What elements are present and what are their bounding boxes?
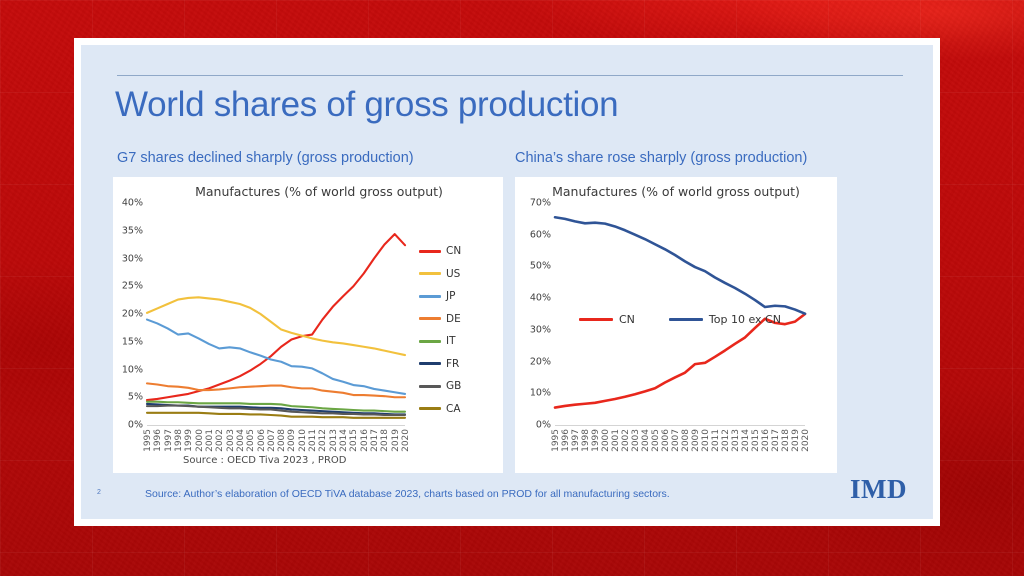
x-axis-tick: 2014 (741, 429, 751, 452)
legend-color-swatch (419, 340, 441, 343)
x-axis-tick: 2006 (661, 429, 671, 452)
y-axis-tick: 5% (128, 392, 143, 403)
chart-left-title: Manufactures (% of world gross output) (113, 184, 503, 199)
legend-label: FR (446, 358, 459, 370)
x-axis-tick: 2011 (308, 429, 318, 452)
series-line (555, 217, 805, 313)
y-axis-tick: 30% (122, 253, 143, 264)
x-axis-tick: 2019 (791, 429, 801, 452)
x-axis-tick: 1999 (184, 429, 194, 452)
x-axis-tick: 2000 (601, 429, 611, 452)
series-line (147, 297, 405, 355)
x-axis-tick: 1996 (561, 429, 571, 452)
y-axis-tick: 10% (122, 364, 143, 375)
legend-color-swatch (419, 250, 441, 253)
x-axis-tick: 2004 (236, 429, 246, 452)
x-axis-tick: 1995 (551, 429, 561, 452)
y-axis-tick: 0% (128, 420, 143, 431)
x-axis-tick: 1996 (153, 429, 163, 452)
y-axis-tick: 20% (530, 356, 551, 367)
x-axis-tick: 2001 (611, 429, 621, 452)
chart-lines (147, 203, 405, 425)
legend-label: GB (446, 380, 461, 392)
legend-entry: CN (419, 245, 461, 257)
chart-right-title: Manufactures (% of world gross output) (515, 184, 837, 199)
legend-color-swatch (669, 318, 703, 322)
series-line (555, 314, 805, 408)
chart-left-y-axis: 0%5%10%15%20%25%30%35%40% (117, 203, 143, 425)
subtitle-left: G7 shares declined sharply (gross produc… (117, 150, 414, 166)
legend-color-swatch (419, 407, 441, 410)
chart-right-legend: CNTop 10 ex CN (579, 313, 781, 326)
legend-entry: FR (419, 358, 461, 370)
x-axis-baseline (147, 425, 405, 426)
legend-entry: CN (579, 313, 635, 326)
legend-label: IT (446, 335, 456, 347)
x-axis-tick: 2005 (651, 429, 661, 452)
x-axis-tick: 2013 (329, 429, 339, 452)
legend-entry: GB (419, 380, 461, 392)
x-axis-tick: 2006 (257, 429, 267, 452)
x-axis-tick: 2017 (370, 429, 380, 452)
x-axis-tick: 2007 (267, 429, 277, 452)
legend-color-swatch (419, 272, 441, 275)
legend-color-swatch (419, 385, 441, 388)
series-line (147, 234, 405, 400)
x-axis-tick: 2019 (391, 429, 401, 452)
subtitle-right: China’s share rose sharply (gross produc… (515, 150, 807, 166)
chart-left-legend: CNUSJPDEITFRGBCA (419, 245, 461, 425)
series-line (147, 320, 405, 394)
x-axis-tick: 2000 (195, 429, 205, 452)
x-axis-baseline (555, 425, 805, 426)
chart-left-source-note: Source : OECD Tiva 2023 , PROD (183, 455, 346, 466)
x-axis-tick: 2007 (671, 429, 681, 452)
x-axis-tick: 2017 (771, 429, 781, 452)
y-axis-tick: 70% (530, 198, 551, 209)
x-axis-tick: 2002 (215, 429, 225, 452)
x-axis-tick: 1997 (571, 429, 581, 452)
x-axis-tick: 2005 (246, 429, 256, 452)
y-axis-tick: 25% (122, 281, 143, 292)
legend-color-swatch (419, 295, 441, 298)
legend-color-swatch (579, 318, 613, 322)
legend-entry: DE (419, 313, 461, 325)
x-axis-tick: 2014 (339, 429, 349, 452)
legend-label: DE (446, 313, 461, 325)
y-axis-tick: 35% (122, 225, 143, 236)
chart-right-x-axis: 1995199619971998199920002001200220032004… (555, 429, 805, 469)
y-axis-tick: 0% (536, 420, 551, 431)
x-axis-tick: 1999 (591, 429, 601, 452)
x-axis-tick: 2020 (401, 429, 411, 452)
legend-color-swatch (419, 362, 441, 365)
imd-logo: IMD (850, 474, 907, 505)
x-axis-tick: 2012 (318, 429, 328, 452)
x-axis-tick: 2003 (226, 429, 236, 452)
x-axis-tick: 1998 (174, 429, 184, 452)
x-axis-tick: 2016 (761, 429, 771, 452)
legend-entry: IT (419, 335, 461, 347)
x-axis-tick: 2002 (621, 429, 631, 452)
slide-frame: World shares of gross production G7 shar… (74, 38, 940, 526)
chart-left-plot-area (147, 203, 405, 425)
slide-canvas: World shares of gross production G7 shar… (81, 45, 933, 519)
x-axis-tick: 2015 (751, 429, 761, 452)
legend-label: CN (446, 245, 461, 257)
x-axis-tick: 2008 (277, 429, 287, 452)
x-axis-tick: 2009 (287, 429, 297, 452)
y-axis-tick: 15% (122, 336, 143, 347)
x-axis-tick: 1998 (581, 429, 591, 452)
legend-entry: JP (419, 290, 461, 302)
footer-source: Source: Author’s elaboration of OECD TiV… (145, 488, 670, 500)
chart-right-y-axis: 0%10%20%30%40%50%60%70% (521, 203, 551, 425)
title-divider (117, 75, 903, 76)
page-number: 2 (97, 489, 101, 496)
x-axis-tick: 2012 (721, 429, 731, 452)
x-axis-tick: 2008 (681, 429, 691, 452)
x-axis-tick: 2016 (360, 429, 370, 452)
page-title: World shares of gross production (115, 85, 618, 125)
legend-label: JP (446, 290, 455, 302)
x-axis-tick: 2010 (701, 429, 711, 452)
y-axis-tick: 50% (530, 261, 551, 272)
x-axis-tick: 2011 (711, 429, 721, 452)
x-axis-tick: 2010 (298, 429, 308, 452)
x-axis-tick: 2020 (801, 429, 811, 452)
x-axis-tick: 2018 (781, 429, 791, 452)
y-axis-tick: 40% (122, 198, 143, 209)
y-axis-tick: 60% (530, 229, 551, 240)
y-axis-tick: 10% (530, 388, 551, 399)
legend-entry: Top 10 ex CN (669, 313, 781, 326)
legend-entry: US (419, 268, 461, 280)
legend-label: CA (446, 403, 461, 415)
x-axis-tick: 1995 (143, 429, 153, 452)
x-axis-tick: 2013 (731, 429, 741, 452)
x-axis-tick: 2009 (691, 429, 701, 452)
legend-label: CN (619, 313, 635, 326)
legend-entry: CA (419, 403, 461, 415)
x-axis-tick: 2018 (380, 429, 390, 452)
legend-label: Top 10 ex CN (709, 313, 781, 326)
y-axis-tick: 40% (530, 293, 551, 304)
x-axis-tick: 2001 (205, 429, 215, 452)
legend-label: US (446, 268, 460, 280)
x-axis-tick: 2004 (641, 429, 651, 452)
x-axis-tick: 2003 (631, 429, 641, 452)
chart-g7-shares: Manufactures (% of world gross output) 0… (113, 177, 503, 473)
x-axis-tick: 2015 (349, 429, 359, 452)
chart-china-share: Manufactures (% of world gross output) 0… (515, 177, 837, 473)
x-axis-tick: 1997 (164, 429, 174, 452)
y-axis-tick: 20% (122, 309, 143, 320)
y-axis-tick: 30% (530, 324, 551, 335)
legend-color-swatch (419, 317, 441, 320)
